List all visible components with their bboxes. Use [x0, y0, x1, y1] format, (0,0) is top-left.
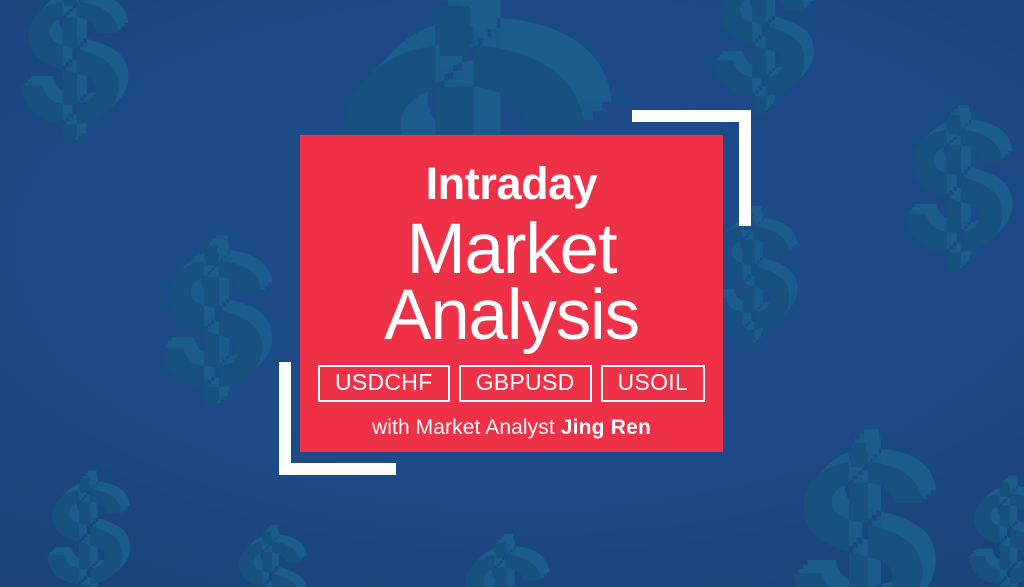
dollar-sign-right-lower-icon [782, 420, 946, 587]
bracket-horizontal-bar [279, 463, 396, 475]
dollar-sign-bottom-mid-icon [228, 520, 312, 587]
dollar-sign-bottom-right-icon [962, 470, 1024, 587]
dollar-sign-bottom-left-icon [40, 465, 136, 587]
byline: with Market Analyst Jing Ren [372, 416, 651, 440]
dollar-sign-bottom-center-icon [452, 528, 556, 587]
dollar-sign-right-upper-icon [896, 98, 1020, 284]
dollar-sign-left-mid-icon [152, 228, 280, 420]
banner-root: Intraday Market Analysis USDCHF GBPUSD U… [0, 0, 1024, 587]
corner-bracket-bottom-left-icon [279, 362, 396, 475]
dollar-sign-top-left-icon [12, 0, 136, 156]
page-title-line-2: Analysis [384, 283, 639, 349]
ticker-badge-usoil[interactable]: USOIL [601, 365, 706, 402]
bracket-vertical-bar [279, 362, 291, 475]
page-title: Market Analysis [384, 217, 639, 349]
dollar-sign-top-right-icon [705, 0, 821, 126]
ticker-badge-gbpusd[interactable]: GBPUSD [459, 365, 592, 402]
byline-prefix: with Market Analyst [372, 416, 555, 439]
kicker-text: Intraday [426, 161, 598, 206]
bracket-vertical-bar [739, 110, 751, 226]
byline-analyst-name: Jing Ren [561, 416, 651, 439]
bracket-horizontal-bar [632, 110, 751, 122]
